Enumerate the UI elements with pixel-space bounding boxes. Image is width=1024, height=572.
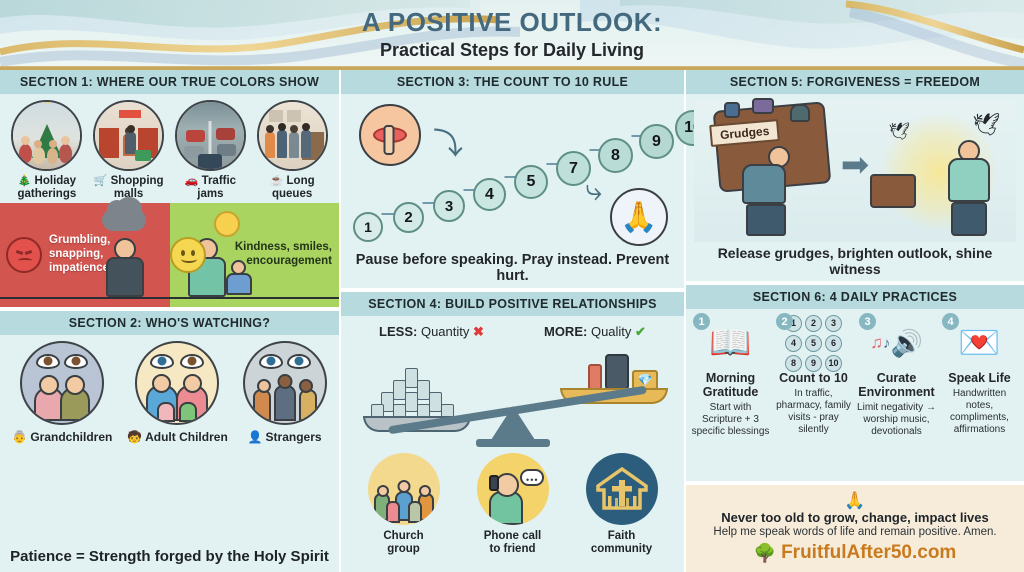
- trigger-item-holiday: 🎄 Holiday gatherings: [8, 100, 86, 201]
- trigger-caption: 🚗 Traffic jams: [185, 175, 236, 201]
- legend-more: MORE: Quality ✔: [544, 324, 646, 340]
- balance-scale-illustration: 💎: [349, 344, 676, 449]
- many-phones-pile: [371, 368, 465, 418]
- child-illustration: [226, 260, 252, 295]
- section-4-heading: SECTION 4: BUILD POSITIVE RELATIONSHIPS: [341, 292, 684, 316]
- trigger-label-line2: gatherings: [17, 188, 76, 200]
- grandparents-icon: 👵: [12, 430, 27, 444]
- watcher-label: Adult Children: [145, 430, 228, 444]
- section-1-heading: SECTION 1: WHERE OUR TRUE COLORS SHOW: [0, 70, 339, 94]
- quality-items: 💎: [588, 350, 658, 390]
- brand-name: FruitfulAfter50.com: [781, 542, 956, 564]
- relationship-label-line1: Church: [383, 530, 423, 542]
- the-choice-block: THE CHOICE Grumbling, snapping, impatien…: [0, 203, 339, 307]
- watcher-item-adult-children: 🧒 Adult Children: [127, 341, 228, 444]
- relationship-caption: Faith community: [591, 530, 652, 556]
- practice-description: Handwritten notes, compliments, affirmat…: [940, 388, 1019, 436]
- brand-logo[interactable]: 🌳 FruitfulAfter50.com: [754, 542, 957, 564]
- curved-arrow-icon: ⤵: [433, 130, 463, 160]
- practice-item-curate-environment: 3 ♫ ♪ 🔊 Curate Environment Limit negativ…: [857, 313, 936, 438]
- grumbling-person-illustration: [106, 238, 144, 297]
- section-1-panel: SECTION 1: WHERE OUR TRUE COLORS SHOW: [0, 70, 339, 307]
- column-middle: SECTION 3: THE COUNT TO 10 RULE ⤵ 1 ⟶ 2 …: [341, 70, 686, 572]
- watcher-list: 👵 Grandchildren: [8, 341, 331, 444]
- practice-item-morning-gratitude: 1 📖 Morning Gratitude Start with Scriptu…: [691, 313, 770, 438]
- keypad-key: 2: [805, 315, 822, 332]
- smiling-face-icon: [170, 237, 206, 273]
- shopping-cart-icon: 🛒: [94, 175, 108, 187]
- keypad-icon: 1 2 3 4 5 6 8 9 10: [785, 317, 842, 369]
- count-circle-4: 4: [473, 178, 506, 211]
- choice-negative-side: Grumbling, snapping, impatience: [0, 203, 170, 307]
- choice-positive-side: Kindness, smiles, encouragement: [170, 203, 340, 307]
- trigger-caption: ☕ Long queues: [270, 175, 315, 201]
- section-4-panel: SECTION 4: BUILD POSITIVE RELATIONSHIPS …: [341, 292, 684, 572]
- family-icon: 🧒: [127, 430, 142, 444]
- relationship-label-line1: Faith: [608, 530, 635, 542]
- trigger-caption: 🎄 Holiday gatherings: [17, 175, 76, 201]
- trigger-label-line2: queues: [272, 188, 312, 200]
- love-letter-icon: 💌: [958, 317, 1000, 369]
- legend-more-key: MORE:: [544, 324, 587, 339]
- trigger-label-line1: Shopping: [111, 175, 164, 187]
- relationship-caption: Church group: [383, 530, 423, 556]
- poster-body: SECTION 1: WHERE OUR TRUE COLORS SHOW: [0, 70, 1024, 572]
- dove-icon: 🕊: [888, 122, 910, 142]
- traffic-jam-illustration: [175, 100, 246, 171]
- practice-item-count-to-ten: 2 1 2 3 4 5 6 8 9: [774, 313, 853, 438]
- watcher-item-strangers: 👤 Strangers: [243, 341, 327, 444]
- shush-lips-icon: [359, 104, 421, 166]
- speaker-music-icon: ♫ ♪ 🔊: [870, 317, 923, 369]
- daily-practice-list: 1 📖 Morning Gratitude Start with Scriptu…: [691, 313, 1019, 438]
- relationship-label-line2: group: [387, 543, 420, 555]
- keypad-key: 5: [805, 335, 822, 352]
- practice-title: Speak Life: [948, 372, 1011, 386]
- sun-icon: [214, 211, 240, 237]
- count-to-ten-diagram: ⤵ 1 ⟶ 2 ⟶ 3 ⟶ 4 ⟶ 5 ⟶ 7 ⟶ 8 ⟶: [349, 100, 676, 250]
- count-circle-1: 1: [353, 212, 383, 242]
- holiday-gathering-illustration: [11, 100, 82, 171]
- relationship-label-line2: community: [591, 543, 652, 555]
- trigger-item-queue: ☕ Long queues: [253, 100, 331, 201]
- column-right: SECTION 5: FORGIVENESS = FREEDOM Grudges: [686, 70, 1024, 572]
- infographic-poster: A POSITIVE OUTLOOK: Practical Steps for …: [0, 0, 1024, 572]
- section-5-footer-text: Release grudges, brighten outlook, shine…: [694, 242, 1016, 277]
- practice-badge: 3: [859, 313, 876, 330]
- burdened-person-illustration: [742, 146, 790, 236]
- footer-card: 🙏 Never too old to grow, change, impact …: [686, 485, 1024, 572]
- trigger-item-traffic: 🚗 Traffic jams: [172, 100, 250, 201]
- keypad-key: 10: [825, 355, 842, 372]
- grandparents-illustration: [20, 341, 104, 425]
- praying-hands-icon: 🙏: [844, 492, 865, 509]
- legend-more-value: Quality: [591, 324, 631, 339]
- trigger-list: 🎄 Holiday gatherings: [8, 100, 331, 201]
- speaker-glyph: 🔊: [890, 328, 922, 359]
- relationship-item-faith: Faith community: [586, 453, 658, 556]
- practice-badge: 2: [776, 313, 793, 330]
- freed-person-illustration: [948, 140, 990, 236]
- family-illustration: [135, 341, 219, 425]
- practice-description: Start with Scripture + 3 specific blessi…: [691, 402, 770, 438]
- keypad-key: 6: [825, 335, 842, 352]
- footer-headline: Never too old to grow, change, impact li…: [721, 510, 989, 525]
- section-3-panel: SECTION 3: THE COUNT TO 10 RULE ⤵ 1 ⟶ 2 …: [341, 70, 684, 288]
- count-circle-3: 3: [433, 190, 465, 222]
- count-circle-8: 8: [598, 138, 633, 173]
- watcher-label: Grandchildren: [30, 430, 112, 444]
- trigger-label-line1: Traffic: [202, 175, 237, 187]
- keypad-key: 8: [785, 355, 802, 372]
- angry-face-icon: [6, 237, 42, 273]
- coffee-cup-icon: ☕: [270, 175, 284, 187]
- strangers-illustration: [243, 341, 327, 425]
- legend-less-key: LESS:: [379, 324, 417, 339]
- section-2-heading: SECTION 2: WHO'S WATCHING?: [0, 311, 339, 335]
- relationship-caption: Phone call to friend: [484, 530, 542, 556]
- dove-icon: 🕊: [972, 112, 1000, 138]
- church-group-illustration: [368, 453, 440, 525]
- trigger-label-line2: jams: [197, 188, 223, 200]
- shopping-mall-illustration: [93, 100, 164, 171]
- practice-description: In traffic, pharmacy, family visits - pr…: [774, 388, 853, 436]
- watcher-caption: 👵 Grandchildren: [12, 430, 112, 444]
- count-circle-9: 9: [639, 124, 674, 159]
- dropped-suitcase-icon: [870, 174, 916, 208]
- tree-icon: 🌳: [754, 543, 776, 564]
- practice-item-speak-life: 4 💌 Speak Life Handwritten notes, compli…: [940, 313, 1019, 438]
- section-3-footer-text: Pause before speaking. Pray instead. Pre…: [349, 250, 676, 284]
- watcher-caption: 🧒 Adult Children: [127, 430, 228, 444]
- column-left: SECTION 1: WHERE OUR TRUE COLORS SHOW: [0, 70, 341, 572]
- section-5-heading: SECTION 5: FORGIVENESS = FREEDOM: [686, 70, 1024, 94]
- practice-badge: 4: [942, 313, 959, 330]
- legend-less: LESS: Quantity ✖: [379, 324, 484, 340]
- page-title: A POSITIVE OUTLOOK:: [362, 7, 662, 38]
- transformation-arrow-icon: ➡: [841, 145, 870, 185]
- christmas-tree-icon: 🎄: [18, 175, 32, 187]
- watcher-item-grandchildren: 👵 Grandchildren: [12, 341, 112, 444]
- practice-title: Curate Environment: [857, 372, 936, 400]
- relationship-label-line1: Phone call: [484, 530, 542, 542]
- section-3-heading: SECTION 3: THE COUNT TO 10 RULE: [341, 70, 684, 94]
- keypad-key: 4: [785, 335, 802, 352]
- practice-badge: 1: [693, 313, 710, 330]
- forgiveness-diagram: Grudges ➡ 🕊 🕊: [694, 100, 1016, 242]
- person-icon: 👤: [248, 430, 263, 444]
- practice-description: Limit negativity → worship music, devoti…: [857, 402, 936, 438]
- cross-icon: ✖: [473, 324, 484, 339]
- section-5-panel: SECTION 5: FORGIVENESS = FREEDOM Grudges: [686, 70, 1024, 281]
- page-subtitle: Practical Steps for Daily Living: [380, 40, 644, 61]
- check-icon: ✔: [635, 324, 646, 339]
- car-icon: 🚗: [185, 175, 199, 187]
- watcher-caption: 👤 Strangers: [248, 430, 322, 444]
- count-circle-2: 2: [393, 202, 424, 233]
- relationship-item-list: Church group •••: [349, 453, 676, 556]
- count-circle-5: 5: [514, 165, 548, 199]
- poster-header: A POSITIVE OUTLOOK: Practical Steps for …: [0, 0, 1024, 70]
- keypad-key: 9: [805, 355, 822, 372]
- long-queue-illustration: [257, 100, 328, 171]
- church-building-icon: [594, 464, 650, 514]
- rain-cloud-icon: [102, 209, 146, 231]
- open-bible-icon: 📖: [709, 317, 751, 369]
- relationship-label-line2: to friend: [490, 543, 536, 555]
- legend-less-value: Quantity: [421, 324, 469, 339]
- watcher-label: Strangers: [266, 430, 322, 444]
- section-2-footer-text: Patience = Strength forged by the Holy S…: [8, 539, 331, 565]
- praying-hands-icon: 🙏: [610, 188, 668, 246]
- footer-prayer-text: Help me speak words of life and remain p…: [713, 526, 996, 538]
- relationship-item-phone: ••• Phone call to friend: [477, 453, 549, 556]
- faith-community-illustration: [586, 453, 658, 525]
- curved-arrow-icon: ⤷: [585, 176, 602, 206]
- keypad-key: 3: [825, 315, 842, 332]
- relationship-item-church: Church group: [368, 453, 440, 556]
- trigger-label-line1: Holiday: [35, 175, 77, 187]
- practice-title: Count to 10: [779, 372, 848, 386]
- section-6-heading: SECTION 6: 4 DAILY PRACTICES: [686, 285, 1024, 309]
- section-2-panel: SECTION 2: WHO'S WATCHING?: [0, 311, 339, 572]
- practice-title: Morning Gratitude: [691, 372, 770, 400]
- trigger-label-line1: Long: [287, 175, 315, 187]
- section-6-panel: SECTION 6: 4 DAILY PRACTICES 1 📖 Morning…: [686, 285, 1024, 481]
- phone-call-illustration: •••: [477, 453, 549, 525]
- quantity-quality-legend: LESS: Quantity ✖ MORE: Quality ✔: [349, 322, 676, 342]
- trigger-item-shopping: 🛒 Shopping malls: [90, 100, 168, 201]
